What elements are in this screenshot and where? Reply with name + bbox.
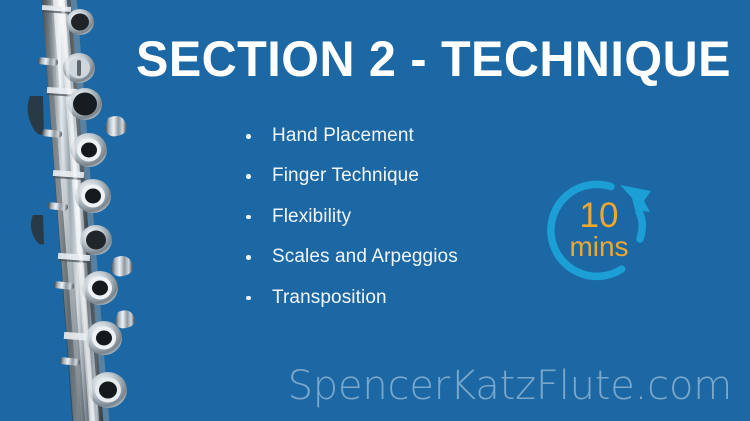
bullet-dot-icon bbox=[246, 215, 251, 220]
list-item: Scales and Arpeggios bbox=[244, 247, 544, 267]
watermark: SpencerKatzFlute.com bbox=[288, 363, 732, 409]
slide-canvas: SECTION 2 - TECHNIQUE Hand Placement Fin… bbox=[0, 0, 750, 421]
page-title: SECTION 2 - TECHNIQUE bbox=[136, 33, 699, 86]
circular-arrow-icon bbox=[536, 167, 662, 293]
bullet-dot-icon bbox=[246, 255, 251, 260]
bullet-dot-icon bbox=[246, 174, 251, 179]
list-item-label: Flexibility bbox=[272, 206, 351, 227]
list-item-label: Hand Placement bbox=[272, 125, 414, 146]
list-item: Hand Placement bbox=[244, 126, 544, 146]
bullet-dot-icon bbox=[246, 134, 251, 139]
list-item: Flexibility bbox=[244, 207, 544, 227]
timer-badge: 10 mins bbox=[536, 167, 662, 293]
list-item-label: Transposition bbox=[272, 287, 387, 308]
list-item-label: Scales and Arpeggios bbox=[272, 246, 458, 267]
bullet-dot-icon bbox=[246, 296, 251, 301]
list-item: Finger Technique bbox=[244, 166, 544, 186]
topic-list: Hand Placement Finger Technique Flexibil… bbox=[244, 126, 544, 328]
list-item: Transposition bbox=[244, 288, 544, 308]
list-item-label: Finger Technique bbox=[272, 165, 419, 186]
